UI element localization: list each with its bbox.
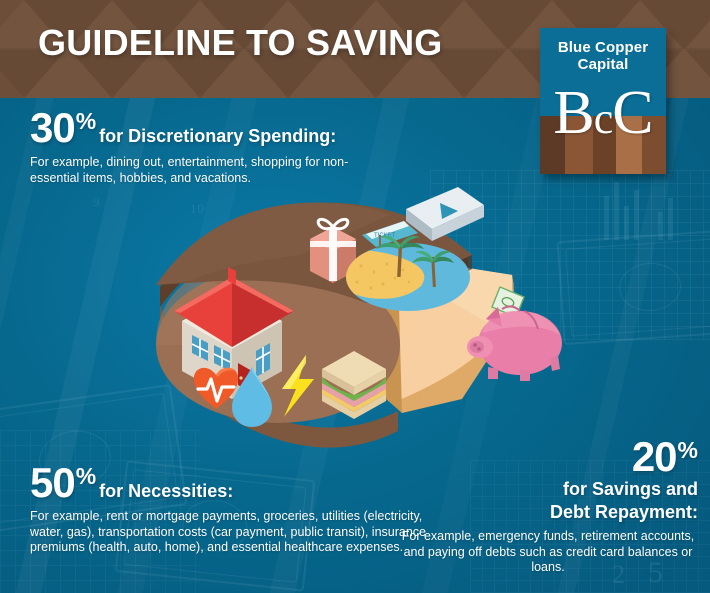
logo-company-name: Blue Copper Capital — [540, 39, 666, 73]
necessities-headline: 50 % for Necessities: — [30, 463, 430, 503]
background-bar-texture — [634, 190, 639, 240]
logo-monogram-c-small: c — [594, 94, 613, 143]
necessities-percent: 50 — [30, 463, 75, 503]
savings-headline: 20 % — [398, 437, 698, 477]
section-necessities: 50 % for Necessities: For example, rent … — [30, 463, 430, 556]
logo-monogram: BcC — [540, 82, 666, 150]
page-title: GUIDELINE TO SAVING — [38, 22, 443, 64]
background-bar-texture — [614, 182, 619, 240]
discretionary-percent-symbol: % — [76, 110, 96, 133]
savings-label-line1: for Savings and — [398, 479, 698, 500]
background-bar-texture — [658, 212, 663, 240]
discretionary-body: For example, dining out, entertainment, … — [30, 155, 390, 186]
background-bar-texture — [624, 206, 629, 240]
section-savings: 20 % for Savings and Debt Repayment: For… — [398, 437, 698, 576]
company-logo[interactable]: Blue Copper Capital BcC — [540, 28, 666, 174]
background-number: 9 — [93, 194, 101, 210]
background-bar-texture — [604, 196, 609, 240]
necessities-label: for Necessities: — [99, 481, 233, 501]
logo-monogram-c-large: C — [612, 79, 652, 147]
savings-body: For example, emergency funds, retirement… — [398, 529, 698, 576]
necessities-body: For example, rent or mortgage payments, … — [30, 509, 430, 556]
logo-name-line1: Blue Copper — [540, 39, 666, 56]
discretionary-label: for Discretionary Spending: — [99, 126, 336, 146]
background-bar-texture — [668, 198, 673, 240]
logo-monogram-b: B — [553, 79, 593, 147]
infographic-canvas: 9 10 11 2 5 — [0, 0, 710, 593]
section-discretionary: 30 % for Discretionary Spending: For exa… — [30, 108, 390, 186]
discretionary-percent: 30 — [30, 108, 75, 148]
logo-name-line2: Capital — [540, 56, 666, 73]
discretionary-headline: 30 % for Discretionary Spending: — [30, 108, 390, 148]
savings-label-line2: Debt Repayment: — [398, 502, 698, 523]
necessities-percent-symbol: % — [76, 465, 96, 488]
savings-percent: 20 — [632, 437, 677, 477]
savings-percent-symbol: % — [678, 439, 698, 462]
